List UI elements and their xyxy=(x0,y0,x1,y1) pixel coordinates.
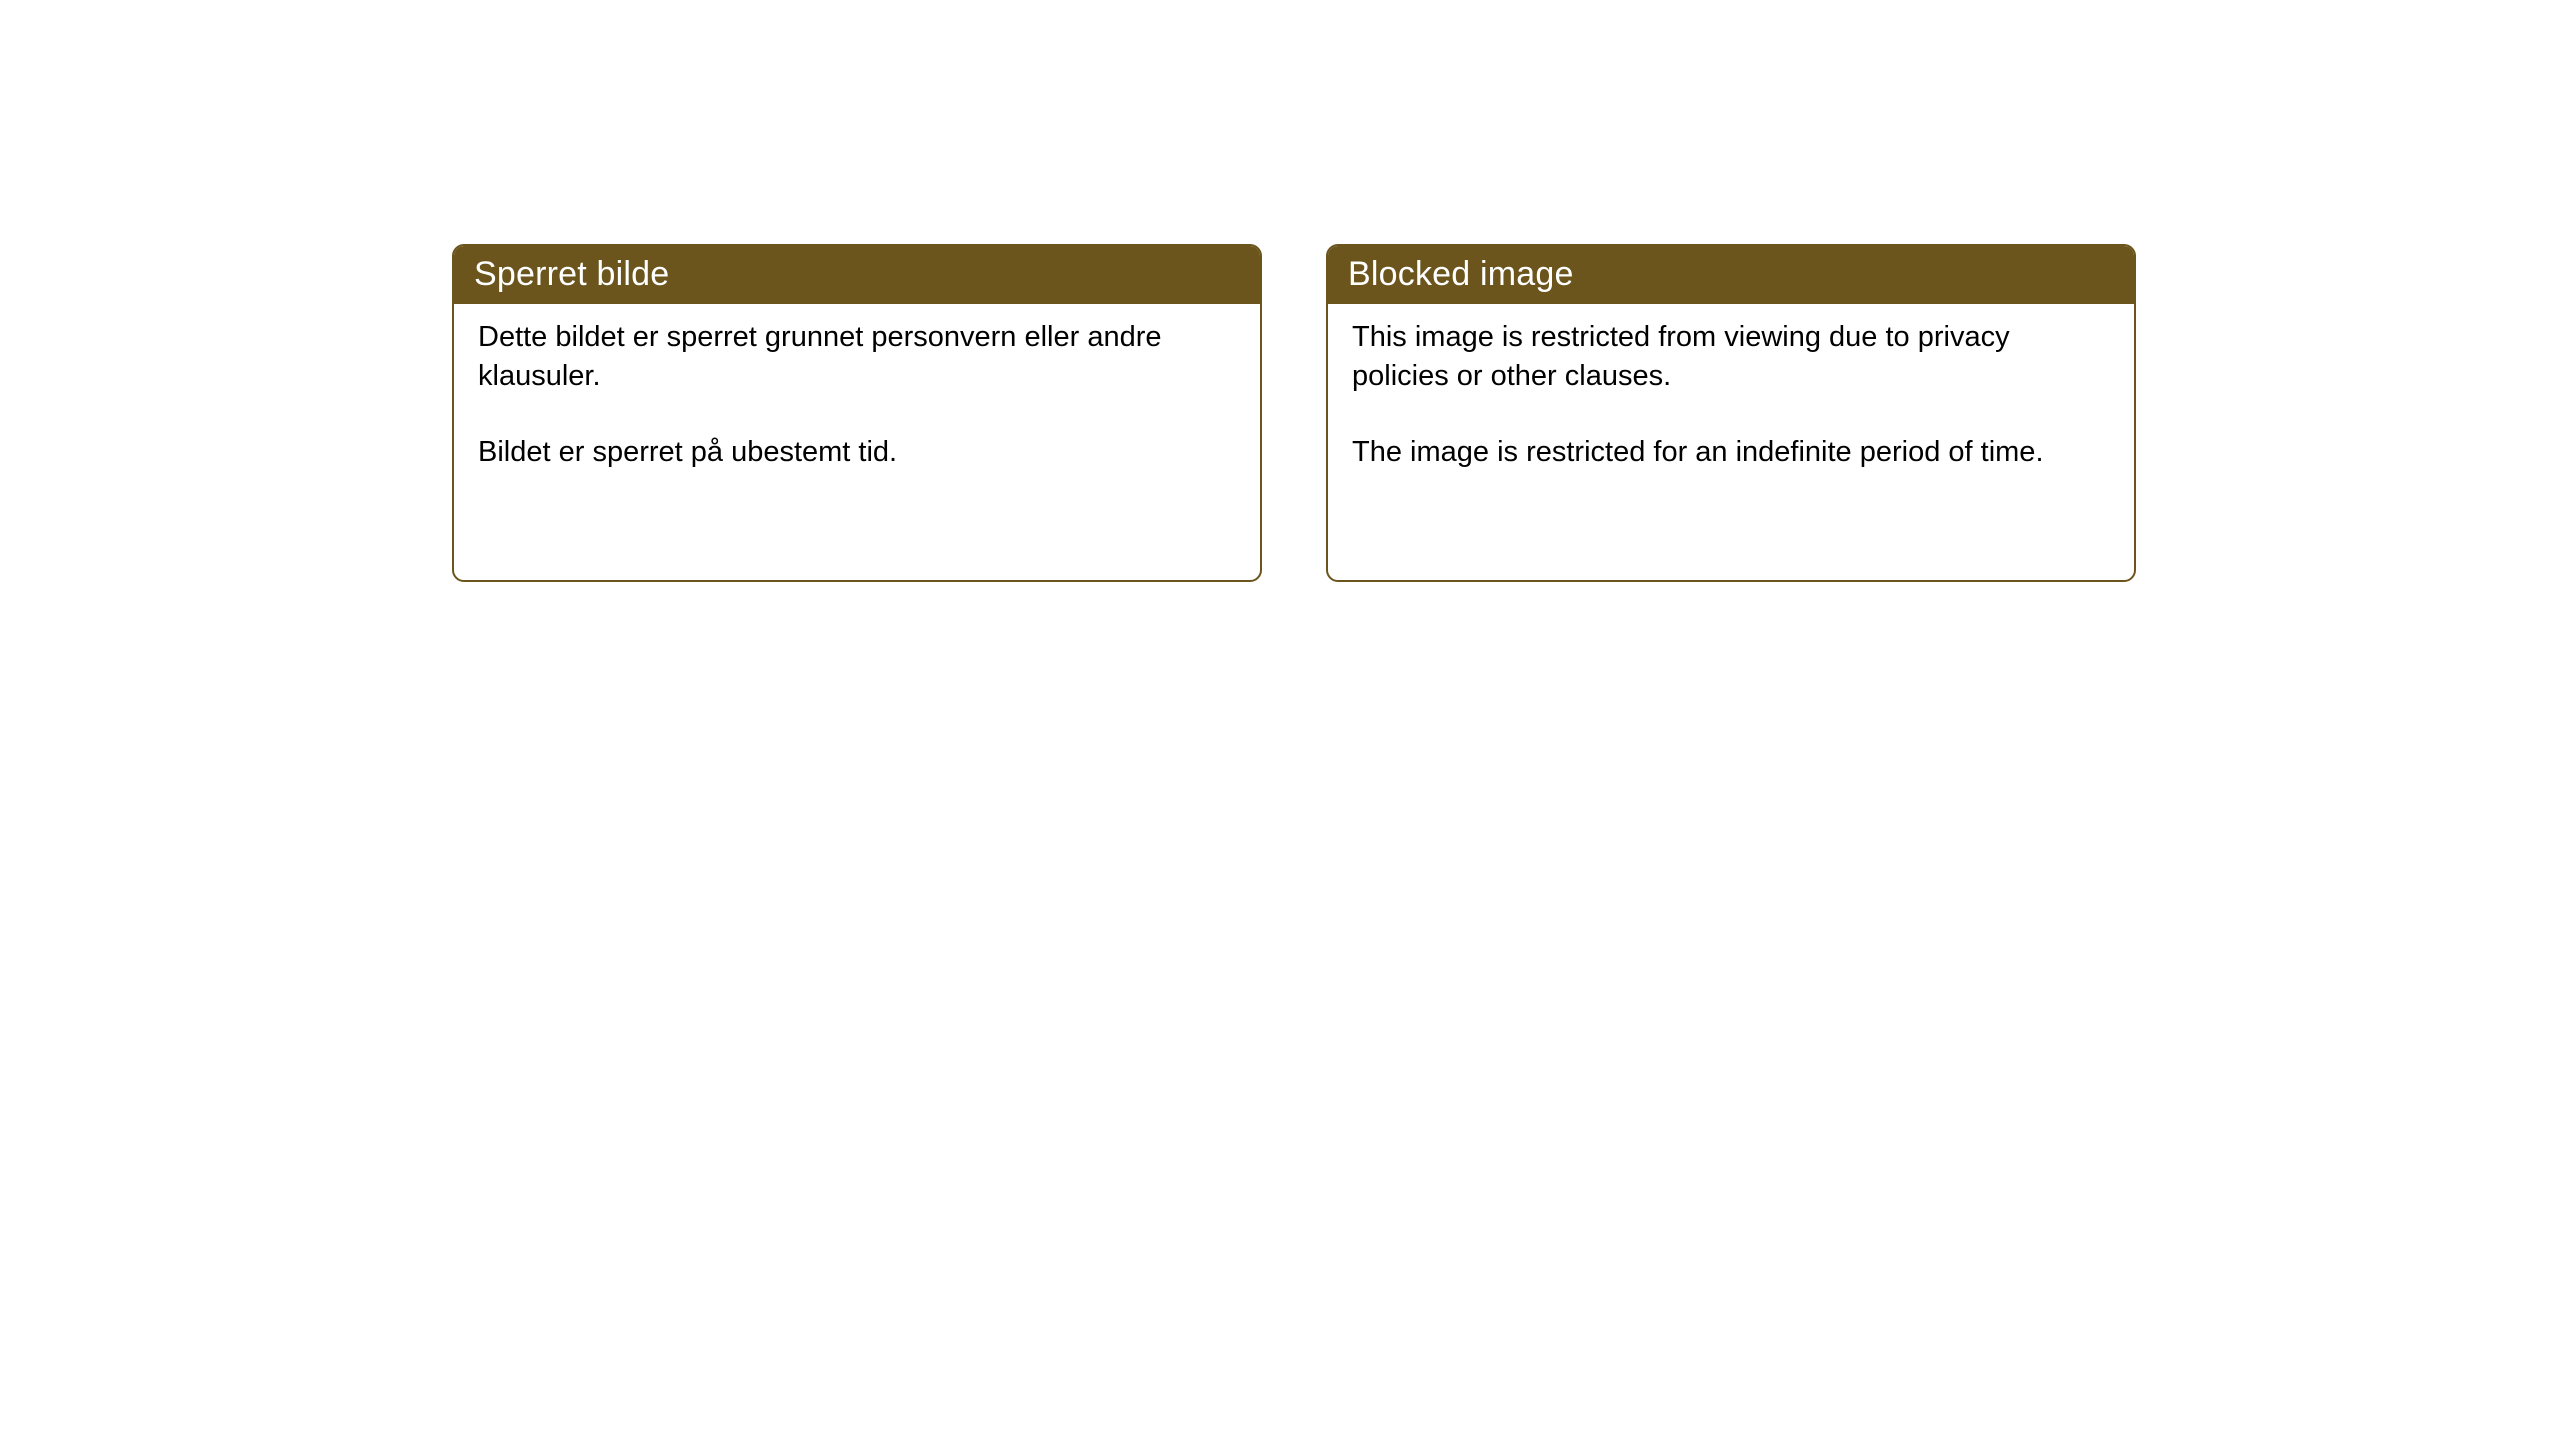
page-root: { "theme": { "accent_brown": "#6b551d", … xyxy=(0,0,2560,1440)
panel-title-english: Blocked image xyxy=(1348,257,1574,291)
panel-body-english: This image is restricted from viewing du… xyxy=(1328,304,2134,580)
panel-body-norwegian: Dette bildet er sperret grunnet personve… xyxy=(454,304,1260,580)
panel-paragraph-reason-english: This image is restricted from viewing du… xyxy=(1352,318,2108,395)
panel-title-norwegian: Sperret bilde xyxy=(474,257,669,291)
blocked-image-notice-group: Sperret bilde Dette bildet er sperret gr… xyxy=(452,244,2136,582)
blocked-image-panel-english: Blocked image This image is restricted f… xyxy=(1326,244,2136,582)
blocked-image-panel-norwegian: Sperret bilde Dette bildet er sperret gr… xyxy=(452,244,1262,582)
panel-paragraph-duration-norwegian: Bildet er sperret på ubestemt tid. xyxy=(478,433,1234,472)
panel-header-english: Blocked image xyxy=(1326,244,2136,304)
panel-header-norwegian: Sperret bilde xyxy=(452,244,1262,304)
panel-paragraph-duration-english: The image is restricted for an indefinit… xyxy=(1352,433,2108,472)
panel-paragraph-reason-norwegian: Dette bildet er sperret grunnet personve… xyxy=(478,318,1234,395)
